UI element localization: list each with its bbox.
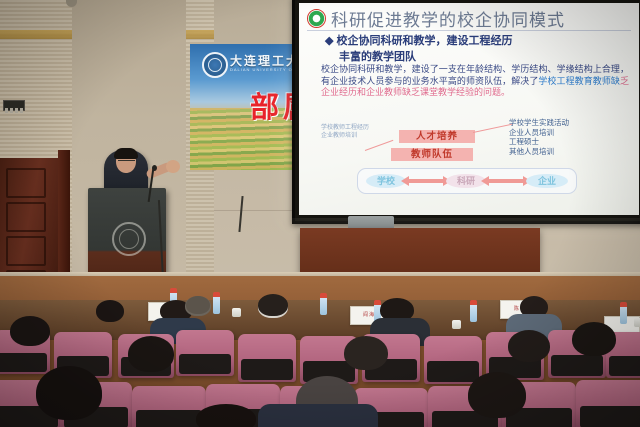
- slide-bullet-line2: 丰富的教学团队: [339, 48, 416, 64]
- microphone-head-icon: [152, 165, 157, 171]
- double-arrow-icon: [408, 179, 444, 183]
- diagram-right-label-4: 其他人员培训: [509, 147, 569, 157]
- diagram-left-labels: 学校教师工程经历 企业教师培训: [321, 124, 369, 140]
- slide-title: 科研促进教学的校企协同模式: [331, 6, 565, 31]
- audience-head: [344, 336, 388, 370]
- audience-head: [36, 366, 102, 420]
- presenter-hand: [166, 160, 180, 173]
- paragraph-highlight-blue: 学校工程教育教师缺: [538, 76, 620, 86]
- lecture-hall-photo: 大连理工大学 DALIAN UNIVERSITY OF TECHNOLOGY 部…: [0, 0, 640, 427]
- projection-screen: 科研促进教学的校企协同模式 ◆校企协同科研和教学，建设工程经历 丰富的教学团队 …: [292, 0, 640, 224]
- circular-green-emblem-icon: [307, 9, 326, 28]
- auditorium-seat[interactable]: [132, 386, 206, 427]
- auditorium-seat[interactable]: [238, 334, 296, 382]
- diagram-flow-research: 科研: [446, 174, 486, 188]
- auditorium-seat[interactable]: [576, 380, 640, 427]
- audience-head: [196, 404, 256, 427]
- slide-paragraph: 校企协同科研和教学，建设了一支在年龄结构、学历结构、学缘结构上合理，有企业技术人…: [321, 64, 629, 99]
- audience-shoulders: [258, 404, 378, 427]
- audience-head: [10, 316, 50, 346]
- diagram-connector: [365, 140, 394, 151]
- podium-seal-icon: [112, 222, 146, 256]
- presenter-hair: [114, 148, 138, 159]
- wall-trim: [0, 30, 72, 39]
- water-bottle-icon: [320, 293, 327, 315]
- audience-head: [186, 296, 210, 314]
- water-bottle-icon: [470, 300, 477, 322]
- audience-head: [96, 300, 124, 322]
- diagram-right-label-3: 工程硕士: [509, 137, 569, 147]
- diagram-flow-enterprise: 企业: [526, 174, 568, 188]
- audience-head: [508, 330, 550, 362]
- bullet-text-1: 校企协同科研和教学，建设工程经历: [336, 35, 512, 47]
- diamond-bullet-icon: ◆: [325, 35, 333, 47]
- presenter-glasses-icon: [118, 160, 135, 164]
- diagram-left-label-2: 企业教师培训: [321, 132, 369, 140]
- auditorium-seat[interactable]: [424, 336, 482, 384]
- wall-trim: [186, 30, 214, 39]
- audience-head: [572, 322, 616, 356]
- diagram-flow-school: 学校: [366, 174, 406, 188]
- diagram-right-label-1: 学校学生实践活动: [509, 118, 569, 128]
- water-bottle-icon: [213, 292, 220, 314]
- tea-cup-icon: [232, 308, 241, 317]
- audience-head: [128, 336, 174, 372]
- tea-cup-icon: [452, 320, 461, 329]
- dut-seal-icon: [202, 52, 228, 78]
- podium-top: [84, 183, 170, 190]
- diagram-flow-container: 学校 科研 企业: [357, 168, 577, 194]
- diagram-connector: [473, 124, 512, 133]
- diagram-left-label-1: 学校教师工程经历: [321, 124, 369, 132]
- auditorium-seat[interactable]: [176, 330, 234, 376]
- light-switch-icon[interactable]: [3, 100, 25, 111]
- diagram-box-talent: 人才培养: [399, 130, 475, 143]
- slide-bullet-line1: ◆校企协同科研和教学，建设工程经历: [325, 34, 631, 48]
- slide-diagram: 学校教师工程经历 企业教师培训 学校学生实践活动 企业人员培训 工程硕士 其他人…: [313, 118, 629, 207]
- audience-head: [468, 372, 526, 418]
- slide-surface: 科研促进教学的校企协同模式 ◆校企协同科研和教学，建设工程经历 丰富的教学团队 …: [299, 3, 639, 215]
- diagram-right-labels: 学校学生实践活动 企业人员培训 工程硕士 其他人员培训: [509, 118, 569, 156]
- title-divider: [307, 30, 631, 31]
- slide-title-row: 科研促进教学的校企协同模式: [307, 5, 633, 31]
- diagram-box-team: 教师队伍: [391, 148, 473, 161]
- diagram-right-label-2: 企业人员培训: [509, 128, 569, 138]
- audience-head: [258, 294, 288, 316]
- double-arrow-icon: [488, 179, 524, 183]
- water-bottle-icon: [620, 302, 627, 324]
- tea-cup-icon: [634, 318, 640, 327]
